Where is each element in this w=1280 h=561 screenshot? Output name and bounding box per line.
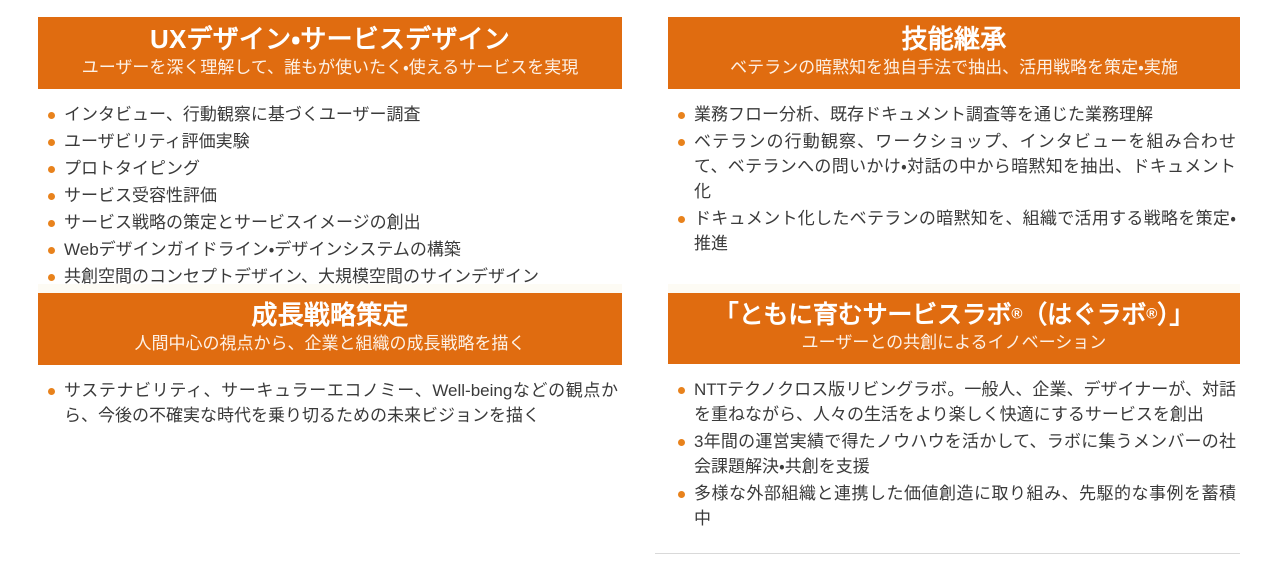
- card-header-hagu-labo: 「ともに育むサービスラボ®（はぐラボ®）」 ユーザーとの共創によるイノベーション: [668, 293, 1240, 364]
- card-body-ux-service-design: インタビュー、行動観察に基づくユーザー調査 ユーザビリティ評価実験 プロトタイピ…: [38, 89, 622, 290]
- bullet-list: 業務フロー分析、既存ドキュメント調査等を通じた業務理解 ベテランの行動観察、ワー…: [674, 103, 1236, 257]
- card-subtitle: ベテランの暗黙知を独自手法で抽出、活用戦略を策定・実施: [678, 57, 1230, 80]
- registered-trademark-icon: ®: [1146, 306, 1157, 323]
- list-item: 多様な外部組織と連携した価値創造に取り組み、先駆的な事例を蓄積中: [674, 482, 1236, 532]
- card-title: 成長戦略策定: [48, 299, 612, 332]
- list-item: ユーザビリティ評価実験: [44, 130, 618, 155]
- list-item: ベテランの行動観察、ワークショップ、インタビューを組み合わせて、ベテランへの問い…: [674, 130, 1236, 205]
- card-body-hagu-labo: NTTテクノクロス版リビングラボ。一般人、企業、デザイナーが、対話を重ねながら、…: [668, 364, 1240, 532]
- card-subtitle: ユーザーを深く理解して、誰もが使いたく・使えるサービスを実現: [48, 57, 612, 80]
- divider-band-left: [38, 284, 622, 293]
- card-title-before: 「ともに育むサービスラボ: [714, 301, 1012, 329]
- card-growth-strategy: 成長戦略策定 人間中心の視点から、企業と組織の成長戦略を描く サステナビリティ、…: [38, 293, 622, 431]
- card-ux-service-design: UXデザイン・サービスデザイン ユーザーを深く理解して、誰もが使いたく・使えるサ…: [38, 17, 622, 292]
- card-hagu-labo: 「ともに育むサービスラボ®（はぐラボ®）」 ユーザーとの共創によるイノベーション…: [668, 293, 1240, 534]
- card-header-skill-succession: 技能継承 ベテランの暗黙知を独自手法で抽出、活用戦略を策定・実施: [668, 17, 1240, 89]
- registered-trademark-icon: ®: [1011, 306, 1022, 323]
- list-item: ドキュメント化したベテランの暗黙知を、組織で活用する戦略を策定・推進: [674, 207, 1236, 257]
- bullet-list: サステナビリティ、サーキュラーエコノミー、Well-beingなどの観点から、今…: [44, 379, 618, 429]
- footer-divider: [655, 553, 1240, 554]
- card-title: 技能継承: [678, 23, 1230, 56]
- bullet-list: インタビュー、行動観察に基づくユーザー調査 ユーザビリティ評価実験 プロトタイピ…: [44, 103, 618, 290]
- card-title-after: ）」: [1157, 301, 1194, 329]
- list-item: NTTテクノクロス版リビングラボ。一般人、企業、デザイナーが、対話を重ねながら、…: [674, 378, 1236, 428]
- card-title: 「ともに育むサービスラボ®（はぐラボ®）」: [678, 299, 1230, 331]
- card-subtitle: ユーザーとの共創によるイノベーション: [678, 332, 1230, 355]
- card-header-ux-service-design: UXデザイン・サービスデザイン ユーザーを深く理解して、誰もが使いたく・使えるサ…: [38, 17, 622, 89]
- list-item: 3年間の運営実績で得たノウハウを活かして、ラボに集うメンバーの社会課題解決・共創…: [674, 430, 1236, 480]
- list-item: 業務フロー分析、既存ドキュメント調査等を通じた業務理解: [674, 103, 1236, 128]
- divider-band-right: [668, 284, 1240, 293]
- card-body-skill-succession: 業務フロー分析、既存ドキュメント調査等を通じた業務理解 ベテランの行動観察、ワー…: [668, 89, 1240, 257]
- card-title: UXデザイン・サービスデザイン: [48, 23, 612, 56]
- list-item: Webデザインガイドライン・デザインシステムの構築: [44, 238, 618, 263]
- card-subtitle: 人間中心の視点から、企業と組織の成長戦略を描く: [48, 333, 612, 356]
- list-item: プロトタイピング: [44, 157, 618, 182]
- list-item: サステナビリティ、サーキュラーエコノミー、Well-beingなどの観点から、今…: [44, 379, 618, 429]
- card-skill-succession: 技能継承 ベテランの暗黙知を独自手法で抽出、活用戦略を策定・実施 業務フロー分析…: [668, 17, 1240, 259]
- card-header-growth-strategy: 成長戦略策定 人間中心の視点から、企業と組織の成長戦略を描く: [38, 293, 622, 365]
- bullet-list: NTTテクノクロス版リビングラボ。一般人、企業、デザイナーが、対話を重ねながら、…: [674, 378, 1236, 532]
- list-item: サービス戦略の策定とサービスイメージの創出: [44, 211, 618, 236]
- card-title-middle: （はぐラボ: [1022, 301, 1146, 329]
- list-item: インタビュー、行動観察に基づくユーザー調査: [44, 103, 618, 128]
- card-body-growth-strategy: サステナビリティ、サーキュラーエコノミー、Well-beingなどの観点から、今…: [38, 365, 622, 429]
- cards-board: UXデザイン・サービスデザイン ユーザーを深く理解して、誰もが使いたく・使えるサ…: [0, 0, 1280, 561]
- list-item: サービス受容性評価: [44, 184, 618, 209]
